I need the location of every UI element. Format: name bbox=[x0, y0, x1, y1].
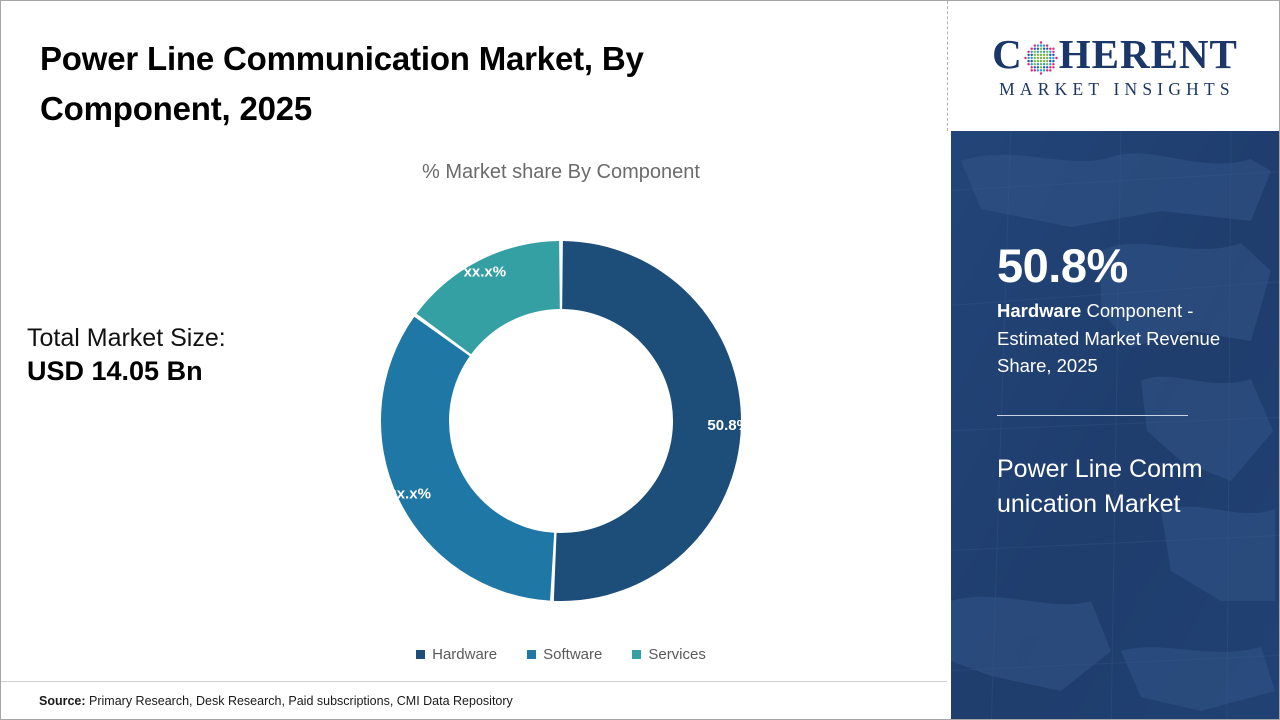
source-divider bbox=[1, 681, 947, 682]
chart-legend: HardwareSoftwareServices bbox=[301, 646, 821, 663]
donut-chart: 50.8%xx.x%xx.x% bbox=[356, 216, 766, 626]
legend-item-hardware[interactable]: Hardware bbox=[416, 646, 497, 663]
legend-label: Services bbox=[648, 646, 706, 663]
source-label: Source: bbox=[39, 694, 86, 708]
chart-subtitle: % Market share By Component bbox=[261, 161, 861, 184]
legend-swatch-icon bbox=[416, 650, 425, 659]
infographic-canvas: Power Line Communication Market, By Comp… bbox=[0, 0, 1280, 720]
logo-wordmark: C HERENT bbox=[992, 34, 1238, 75]
panel-divider bbox=[997, 415, 1188, 416]
total-market-size-block: Total Market Size: USD 14.05 Bn bbox=[27, 323, 327, 389]
legend-swatch-icon bbox=[632, 650, 641, 659]
right-sidebar: C HERENT MARKET INSIGHTS bbox=[951, 1, 1279, 719]
total-market-size-value: USD 14.05 Bn bbox=[27, 353, 327, 389]
panel-content: 50.8% Hardware Component - Estimated Mar… bbox=[997, 241, 1247, 522]
donut-slice-group bbox=[381, 241, 741, 601]
vertical-dashed-divider bbox=[947, 1, 948, 131]
donut-slice-software bbox=[381, 317, 554, 601]
total-market-size-label: Total Market Size: bbox=[27, 323, 327, 353]
chart-main-area: Power Line Communication Market, By Comp… bbox=[1, 1, 947, 719]
logo-letters-herent: HERENT bbox=[1059, 34, 1238, 75]
donut-label-software: xx.x% bbox=[388, 485, 431, 502]
donut-chart-svg: 50.8%xx.x%xx.x% bbox=[356, 216, 766, 626]
source-text: Primary Research, Desk Research, Paid su… bbox=[86, 694, 513, 708]
logo-tagline: MARKET INSIGHTS bbox=[995, 79, 1235, 100]
source-note: Source: Primary Research, Desk Research,… bbox=[39, 694, 513, 708]
panel-market-name: Power Line Communication Market bbox=[997, 452, 1207, 522]
dotted-globe-icon bbox=[1024, 41, 1058, 75]
brand-logo: C HERENT MARKET INSIGHTS bbox=[951, 3, 1279, 131]
legend-label: Hardware bbox=[432, 646, 497, 663]
legend-swatch-icon bbox=[527, 650, 536, 659]
page-title: Power Line Communication Market, By Comp… bbox=[40, 34, 800, 134]
logo-letter-c: C bbox=[992, 34, 1023, 75]
highlight-panel: 50.8% Hardware Component - Estimated Mar… bbox=[951, 131, 1279, 719]
donut-label-services: xx.x% bbox=[464, 264, 507, 281]
legend-item-software[interactable]: Software bbox=[527, 646, 602, 663]
legend-label: Software bbox=[543, 646, 602, 663]
panel-description-bold: Hardware bbox=[997, 300, 1081, 321]
panel-description: Hardware Component - Estimated Market Re… bbox=[997, 297, 1233, 379]
panel-percent-value: 50.8% bbox=[997, 241, 1247, 290]
legend-item-services[interactable]: Services bbox=[632, 646, 706, 663]
donut-label-hardware: 50.8% bbox=[707, 417, 750, 434]
